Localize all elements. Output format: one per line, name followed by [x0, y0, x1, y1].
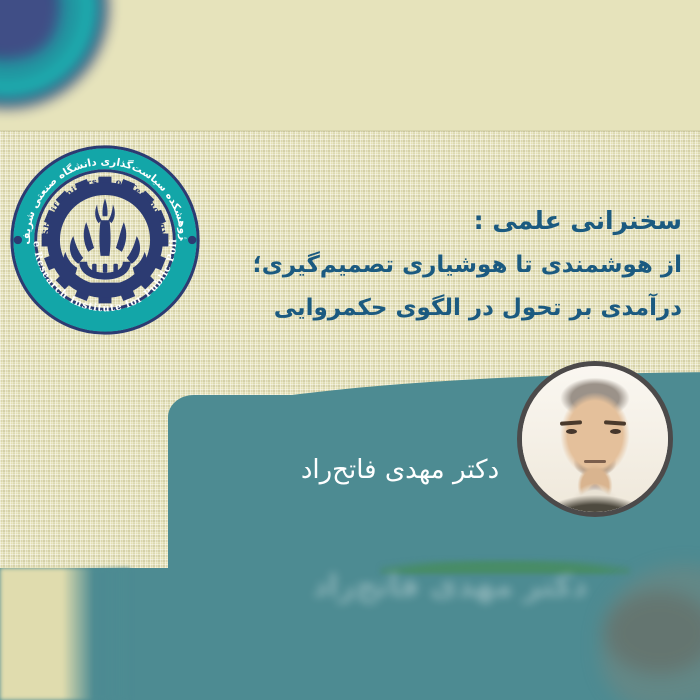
speaker-name: دکتر مهدی فاتح‌راد — [285, 455, 515, 485]
speaker-portrait — [517, 361, 673, 517]
portrait-eye-left — [566, 429, 577, 434]
portrait-brow-left — [560, 420, 582, 426]
portrait-image — [522, 366, 668, 512]
title-line-2: از هوشمندی تا هوشیاری تصمیم‌گیری؛ — [122, 251, 682, 280]
portrait-mouth — [584, 460, 606, 463]
portrait-eye-right — [610, 429, 621, 434]
blurred-speaker-name-watermark: دکتر مهدی فاتح‌راد — [250, 556, 650, 618]
poster-title-block: سخنرانی علمی : از هوشمندی تا هوشیاری تصم… — [122, 205, 682, 324]
portrait-brow-right — [604, 420, 626, 426]
teal-bottom-band-left-fade — [0, 568, 130, 700]
title-line-1: سخنرانی علمی : — [122, 205, 682, 237]
background-seam-divider — [0, 130, 700, 132]
seminar-poster: دکتر مهدی فاتح‌راد پژوهشکده سیاست‌گذاری … — [0, 0, 700, 700]
title-line-3: درآمدی بر تحول در الگوی حکمروایی — [122, 294, 682, 323]
